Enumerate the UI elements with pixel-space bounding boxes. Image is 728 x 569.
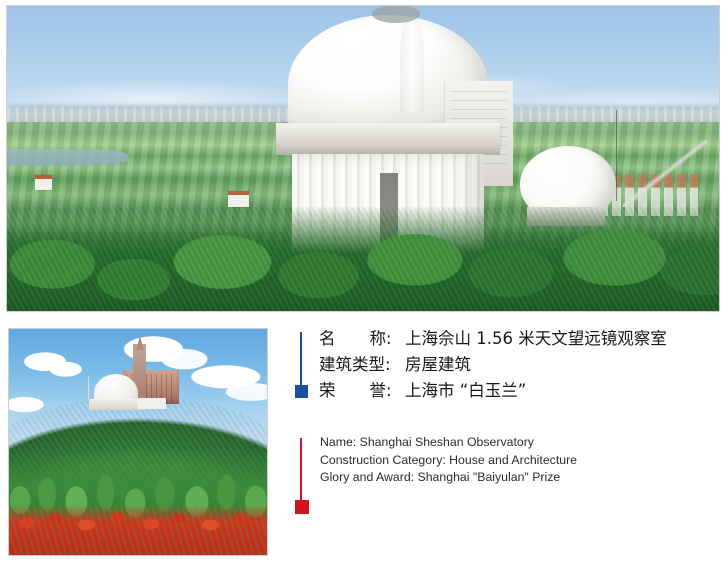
chinese-info-block: 名称:上海佘山 1.56 米天文望远镜观察室 建筑类型:房屋建筑 荣誉:上海市 … <box>319 326 667 404</box>
thumb-antenna-mast <box>88 376 89 399</box>
english-info-block: Name: Shanghai Sheshan Observatory Const… <box>320 434 577 487</box>
english-row-name: Name: Shanghai Sheshan Observatory <box>320 434 577 452</box>
foreground-tree-canopy <box>7 207 719 311</box>
chinese-accent-square <box>295 385 308 398</box>
road <box>623 140 708 207</box>
info-panel: 名称:上海佘山 1.56 米天文望远镜观察室 建筑类型:房屋建筑 荣誉:上海市 … <box>292 322 722 558</box>
water-pond <box>7 149 128 164</box>
thumb-white-annex <box>138 398 166 409</box>
english-accent-square <box>295 500 309 514</box>
chinese-row-category-key: 建筑类型: <box>319 352 405 378</box>
english-row-award: Glory and Award: Shanghai "Baiyulan" Pri… <box>320 469 577 487</box>
chinese-row-name: 名称:上海佘山 1.56 米天文望远镜观察室 <box>319 326 667 352</box>
farmhouse-left <box>35 175 52 190</box>
observation-deck <box>276 123 499 149</box>
thumbnail-photo-canvas <box>9 329 267 555</box>
antenna-mast <box>616 110 617 202</box>
farmhouse-center <box>228 191 249 207</box>
chinese-row-award: 荣誉:上海市 “白玉兰” <box>319 378 667 404</box>
hero-photo-canvas <box>7 6 719 311</box>
sheshan-hill-photo <box>8 328 268 556</box>
chinese-row-award-value: 上海市 “白玉兰” <box>405 381 526 400</box>
chinese-row-category: 建筑类型:房屋建筑 <box>319 352 667 378</box>
chinese-row-category-value: 房屋建筑 <box>405 355 471 374</box>
hero-observatory-photo <box>6 5 720 312</box>
chinese-row-name-key: 名称: <box>319 326 405 352</box>
dome-shutter-slit <box>400 15 424 112</box>
english-row-category: Construction Category: House and Archite… <box>320 452 577 470</box>
english-accent-line <box>300 438 302 500</box>
chinese-row-award-key: 荣誉: <box>319 378 405 404</box>
basilica-spire <box>136 336 144 350</box>
chinese-accent-line <box>300 332 302 385</box>
red-flower-field <box>9 505 267 555</box>
thumb-dome-base <box>89 399 143 410</box>
chinese-row-name-value: 上海佘山 1.56 米天文望远镜观察室 <box>405 329 667 348</box>
dome-top-cap <box>372 6 420 23</box>
